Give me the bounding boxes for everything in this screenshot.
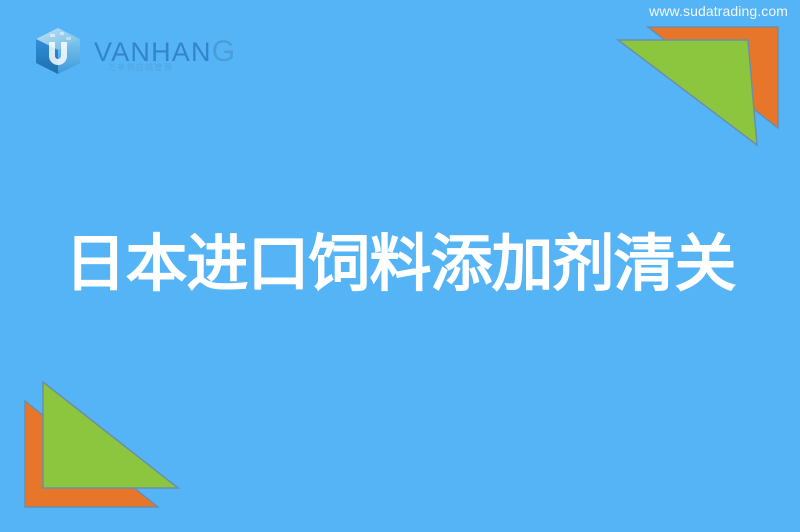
logo-wordmark-tail: G — [212, 35, 237, 68]
triangle-top-right-orange — [648, 27, 778, 128]
logo-text-group: VANHANG 万享供应链管理 — [94, 30, 236, 74]
triangle-top-right-green — [618, 40, 757, 145]
triangle-bottom-left-green — [43, 382, 178, 488]
page-title: 日本进口饲料添加剂清关 — [0, 228, 800, 300]
poster-canvas: www.sudatrading.com — [0, 0, 800, 532]
triangle-bottom-left-orange — [25, 401, 158, 507]
logo-wordmark: VANHANG — [94, 38, 236, 66]
logo-subtext: 万享供应链管理 — [108, 63, 173, 72]
vanhang-cube-icon — [30, 24, 86, 80]
website-url: www.sudatrading.com — [649, 3, 788, 19]
brand-logo: VANHANG 万享供应链管理 — [30, 22, 236, 82]
